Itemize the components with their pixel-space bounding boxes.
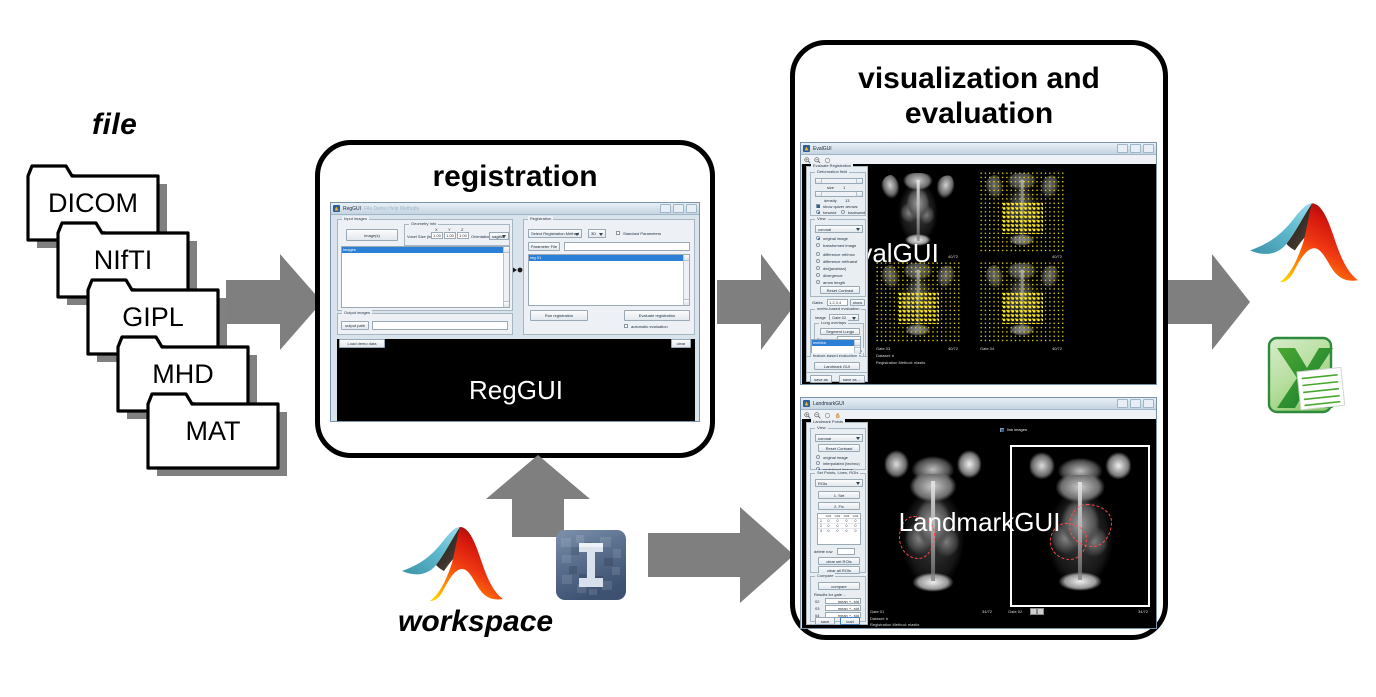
evalgui-show-quiver-label: show quiver arrows — [823, 204, 857, 209]
evalgui-save-as-button[interactable]: save as ... — [839, 375, 865, 383]
reggui-standard-parameters-label: Standard Parameters — [623, 231, 661, 236]
landmarkgui-caption-dataset: Dataset: b — [870, 616, 888, 621]
landmarkgui-set-points-group: Set Points, Lines, ROIs ROIs 1. Set 2. F… — [810, 473, 866, 573]
reggui-evaluate-registration-button[interactable]: Evaluate registration — [624, 310, 690, 321]
landmarkgui-roi-type-select[interactable]: ROIs — [815, 479, 863, 487]
maximize-icon[interactable] — [1130, 399, 1141, 408]
evalgui-show-gates-button[interactable]: show — [850, 299, 865, 306]
landmarkgui-prev-slice-button[interactable] — [1030, 608, 1037, 615]
hand-icon[interactable] — [834, 412, 841, 419]
registration-stage-title: registration — [320, 159, 710, 194]
evalgui-view-option-radio-1[interactable] — [816, 243, 820, 247]
reggui-automatic-evaluation-checkbox[interactable] — [624, 324, 628, 328]
landmarkgui-view-option-radio-1[interactable] — [816, 461, 820, 465]
landmarkgui-landmark-points-group: Landmark Points View coronal Reset Contr… — [806, 422, 868, 625]
list-item[interactable]: metrics — [812, 340, 860, 346]
evalgui-view-option-radio-5[interactable] — [816, 273, 820, 277]
landmarkgui-link-images-checkbox[interactable] — [1000, 428, 1004, 432]
matlab-logo-output — [1248, 200, 1360, 290]
evalgui-lung-overlaps-label: Lung overlaps — [819, 320, 848, 325]
landmarkgui-reset-contrast-button[interactable]: Reset Contrast — [818, 444, 860, 452]
close-icon[interactable] — [1143, 144, 1154, 153]
evalgui-caption-dataset: Dataset: b — [876, 353, 894, 358]
table-header-cell: G02 — [833, 514, 842, 518]
evalgui-window[interactable]: EvalGUI — [800, 142, 1157, 385]
evalgui-save-button[interactable]: save as — [810, 375, 832, 383]
evalgui-window-title: EvalGUI — [813, 146, 832, 152]
evalgui-view-option-label-4: det(jacobian) — [823, 266, 846, 271]
landmarkgui-caption-gate-right: Gate 02 — [1008, 609, 1022, 614]
evalgui-caption-gate-left: Gate 03 — [876, 346, 890, 351]
mri-tile-gate-bottomleft — [874, 260, 962, 342]
evalgui-show-quiver-checkbox[interactable] — [816, 204, 820, 208]
landmarkgui-view-option-radio-0[interactable] — [816, 455, 820, 459]
reggui-window-title: RegGUI — [343, 206, 361, 212]
evalgui-metrics-listbox[interactable]: metrics — [811, 339, 861, 354]
landmarkgui-set-button[interactable]: 1. Set — [818, 491, 860, 499]
evalgui-view-group: View coronal original image transformed … — [810, 219, 866, 297]
evalgui-density-value: 13 — [845, 198, 849, 203]
matlab-figure-icon — [803, 145, 810, 152]
reggui-output-images-group: Output images output path — [337, 313, 513, 335]
landmarkgui-view-group: View coronal Reset Contrast original ima… — [810, 428, 866, 470]
landmarkgui-view-label: View — [815, 425, 828, 430]
landmarkgui-results-label: Results for gate ... — [814, 592, 846, 597]
vertical-scrollbar[interactable] — [854, 340, 860, 353]
mri-tile-gate-topright — [978, 170, 1066, 252]
table-header-cell: G03 — [842, 514, 851, 518]
landmarkgui-plane-select[interactable]: coronal — [815, 434, 863, 442]
evalgui-view-option-radio-6[interactable] — [816, 280, 820, 284]
reggui-output-path-button[interactable]: output path — [341, 321, 369, 330]
landmarkgui-view-option-label-0: original image — [823, 455, 848, 460]
evalgui-caption-slice-mid-left: 40/72 — [948, 254, 958, 259]
evalgui-view-option-label-3: difference ref/transf — [823, 259, 857, 264]
matlab-figure-icon — [803, 400, 810, 407]
evalgui-size-slider[interactable] — [815, 178, 863, 184]
landmarkgui-caption-slice-left: 34/72 — [982, 609, 992, 614]
landmarkgui-delete-row-label: delete row — [814, 549, 832, 554]
maximize-icon[interactable] — [1130, 144, 1141, 153]
reggui-registration-list[interactable]: reg 01 — [528, 254, 690, 306]
reggui-input-images-label: Input images — [342, 216, 369, 221]
evalgui-gates-label: Gates — [812, 300, 823, 305]
landmarkgui-result-value-1: mean +- std — [825, 605, 861, 611]
close-icon[interactable] — [1143, 399, 1154, 408]
landmarkgui-clear-set-rois-button[interactable]: clear set ROIs — [818, 557, 860, 565]
evalgui-segment-lungs-button[interactable]: Segment Lungs — [820, 328, 860, 335]
evalgui-forward-radio[interactable] — [816, 210, 820, 214]
reggui-output-images-label: Output images — [342, 310, 372, 315]
zoom-in-icon[interactable] — [804, 412, 811, 419]
reggui-standard-parameters-checkbox[interactable] — [616, 231, 620, 235]
reggui-display-area: RegGUI — [337, 339, 695, 421]
imagej-logo — [555, 529, 627, 601]
vertical-scrollbar[interactable] — [503, 247, 509, 307]
table-row[interactable]: 3 0 0 0 0 — [818, 529, 860, 533]
pan-icon[interactable] — [824, 412, 831, 419]
evalgui-deformation-field-group: Deformation field size 1 density 13 show… — [810, 172, 866, 216]
zoom-in-icon[interactable] — [804, 157, 811, 164]
landmarkgui-menu-ghost — [847, 401, 848, 407]
reggui-voxel-z-field[interactable]: 1.00 — [457, 232, 469, 239]
reggui-registration-label: Registration — [528, 216, 553, 221]
evalgui-reset-contrast-button[interactable]: Reset Contrast — [820, 286, 860, 294]
table-header-cell: G01 — [824, 514, 833, 518]
file-folder-label: MAT — [138, 416, 288, 447]
file-folder-mat[interactable]: MAT — [138, 386, 288, 474]
evalgui-caption-slice-left: 40/72 — [948, 346, 958, 351]
evalgui-feature-based-label: feature-based evaluation — [811, 353, 859, 358]
evalgui-forward-label: forward — [823, 210, 836, 215]
arrow-registration-to-evalgui — [717, 252, 797, 352]
evalgui-landmark-gui-button[interactable]: Landmark GUI — [814, 362, 860, 370]
landmarkgui-roi-table[interactable]: G01 G02 G03 G04 1 0 0 0 0 2 0 — [817, 513, 861, 545]
matlab-figure-icon — [333, 205, 340, 212]
evalgui-view-label: View — [815, 216, 828, 221]
evalgui-caption-slice-right: 40/72 — [1052, 346, 1062, 351]
reggui-window-buttons[interactable] — [660, 204, 697, 213]
evalgui-plane-select[interactable]: coronal — [815, 225, 863, 233]
evalgui-view-option-radio-4[interactable] — [816, 266, 820, 270]
reggui-orientation-label: Orientation — [471, 234, 491, 239]
evalgui-view-option-label-1: transformed image — [823, 243, 856, 248]
maximize-icon[interactable] — [673, 204, 684, 213]
reggui-input-image-list[interactable]: images — [341, 246, 510, 308]
close-icon[interactable] — [686, 204, 697, 213]
landmarkgui-compare-button[interactable]: compare — [818, 582, 860, 590]
reggui-window[interactable]: RegGUI File Demo Help Methods Input imag… — [330, 202, 700, 422]
landmarkgui-compare-group: Compare compare Results for gate ... 02 … — [810, 576, 866, 622]
reggui-geometry-label: Geometry Info — [409, 221, 438, 226]
zoom-out-icon[interactable] — [814, 412, 821, 419]
landmarkgui-result-gate-0: 02 — [815, 599, 819, 604]
reggui-parameter-file-button[interactable]: Parameter File — [528, 242, 560, 251]
evalgui-density-label: density — [824, 198, 837, 203]
landmarkgui-caption-gate-left: Gate 01 — [870, 609, 884, 614]
reggui-voxel-x-field[interactable]: 1.00 — [431, 232, 443, 239]
reggui-automatic-evaluation-label: automatic evaluation — [631, 324, 668, 329]
reggui-titlebar[interactable]: RegGUI File Demo Help Methods — [331, 203, 699, 215]
evalgui-window-buttons[interactable] — [1117, 144, 1154, 153]
evalgui-evaluate-registration-label: Evaluate Registration — [811, 163, 853, 168]
landmarkgui-result-gate-1: 03 — [815, 606, 819, 611]
landmarkgui-landmark-points-label: Landmark Points — [811, 419, 845, 424]
evalgui-deformation-field-label: Deformation field — [815, 169, 849, 174]
evalgui-view-option-radio-2[interactable] — [816, 252, 820, 256]
evalgui-caption-method: Registration Method: elastix — [876, 360, 925, 365]
list-item[interactable]: reg 01 — [529, 255, 689, 261]
list-item[interactable]: images — [342, 247, 509, 253]
landmarkgui-window[interactable]: LandmarkGUI link im — [800, 397, 1157, 629]
reggui-load-demo-data-button[interactable]: Load demo data — [339, 339, 385, 348]
landmarkgui-next-slice-button[interactable] — [1037, 608, 1044, 615]
mri-tile-gate-bottomright — [978, 260, 1066, 342]
landmarkgui-view-option-label-1: interpolated (technu) — [823, 461, 860, 466]
evalgui-caption-slice-mid-right: 40/72 — [1052, 254, 1062, 259]
evalgui-backward-radio[interactable] — [841, 210, 845, 214]
reggui-geometry-group: Geometry Info X Y Z Voxel Size (in mm) 1… — [404, 224, 510, 246]
landmarkgui-window-buttons[interactable] — [1117, 399, 1154, 408]
evalgui-backward-label: backward — [848, 210, 865, 215]
arrow-files-to-registration — [226, 252, 322, 352]
evalgui-size-value: 1 — [843, 185, 845, 190]
landmarkgui-link-images-label: link images — [1007, 427, 1027, 432]
reggui-output-path-field[interactable] — [372, 321, 508, 330]
landmarkgui-result-value-0: mean +- std — [825, 598, 861, 604]
reggui-menu-ghost: File Demo Help Methods — [364, 206, 419, 212]
reggui-watermark: RegGUI — [337, 375, 695, 406]
evalgui-feature-based-group: feature-based evaluation Landmark GUI — [806, 356, 868, 373]
arrow-workspace-to-landmarkgui — [648, 505, 794, 605]
minimize-icon[interactable] — [1117, 399, 1128, 408]
landmarkgui-delete-row-field[interactable] — [837, 548, 855, 555]
reggui-registration-group: Registration Select Registration Method … — [523, 219, 695, 335]
minimize-icon[interactable] — [660, 204, 671, 213]
landmarkgui-caption-slice-right: 34/72 — [1138, 609, 1148, 614]
reggui-run-registration-button[interactable]: Run registration — [530, 310, 588, 321]
visualization-title-line1: visualization and — [858, 62, 1100, 95]
evalgui-caption-gate-right: Gate 04 — [980, 346, 994, 351]
evalgui-density-slider[interactable] — [815, 191, 863, 197]
evalgui-view-option-label-6: arrow length — [823, 280, 845, 285]
evalgui-view-option-label-2: difference ref/mov — [823, 252, 855, 257]
reggui-orientation-select[interactable]: sagittal — [489, 232, 509, 240]
landmarkgui-set-points-label: Set Points, Lines, ROIs — [815, 470, 860, 475]
landmarkgui-titlebar[interactable]: LandmarkGUI — [801, 398, 1156, 410]
reggui-clear-button[interactable]: clear — [671, 339, 691, 348]
evalgui-view-option-label-5: divergence — [823, 273, 843, 278]
reggui-images-button[interactable]: image(s) — [346, 229, 398, 241]
file-group-label: file — [92, 108, 137, 142]
reggui-input-images-group: Input images image(s) Geometry Info X Y … — [337, 219, 513, 311]
landmarkgui-load-button[interactable]: load — [840, 617, 860, 625]
landmarkgui-caption-method: Registration Method: elastix — [870, 622, 919, 627]
landmarkgui-save-button[interactable]: save — [815, 617, 835, 625]
reggui-dimension-select[interactable]: 3D — [588, 229, 606, 238]
matlab-logo-workspace — [400, 525, 505, 607]
reggui-voxel-y-field[interactable]: 1.00 — [444, 232, 456, 239]
evalgui-metric-based-label: metric-based evaluation — [815, 306, 861, 311]
landmarkgui-window-title: LandmarkGUI — [813, 401, 844, 407]
visualization-title-line2: evaluation — [905, 97, 1053, 130]
evalgui-view-option-radio-3[interactable] — [816, 259, 820, 263]
excel-logo-output — [1259, 332, 1347, 420]
evalgui-view-option-radio-0[interactable] — [816, 236, 820, 240]
landmarkgui-fix-button[interactable]: 2. Fix — [818, 502, 860, 510]
reggui-parameter-file-field[interactable] — [564, 242, 690, 251]
visualization-stage-title: visualization and evaluation — [795, 61, 1163, 132]
evalgui-size-label: size — [827, 185, 834, 190]
evalgui-titlebar[interactable]: EvalGUI — [801, 143, 1156, 155]
minimize-icon[interactable] — [1117, 144, 1128, 153]
vertical-scrollbar[interactable] — [683, 255, 689, 305]
workspace-group-label: workspace — [398, 605, 553, 639]
landmarkgui-compare-label: Compare — [815, 573, 835, 578]
evalgui-view-option-label-0: original image — [823, 236, 848, 241]
evalgui-gates-field[interactable]: 1,2,3,4 — [827, 299, 848, 306]
reggui-method-select[interactable]: Select Registration Method — [528, 229, 582, 238]
table-header-cell: G04 — [851, 514, 860, 518]
workflow-diagram: file DICOM NIfTI GIPL MHD MA — [0, 0, 1376, 697]
arrow-evaluation-to-outputs — [1168, 252, 1250, 352]
